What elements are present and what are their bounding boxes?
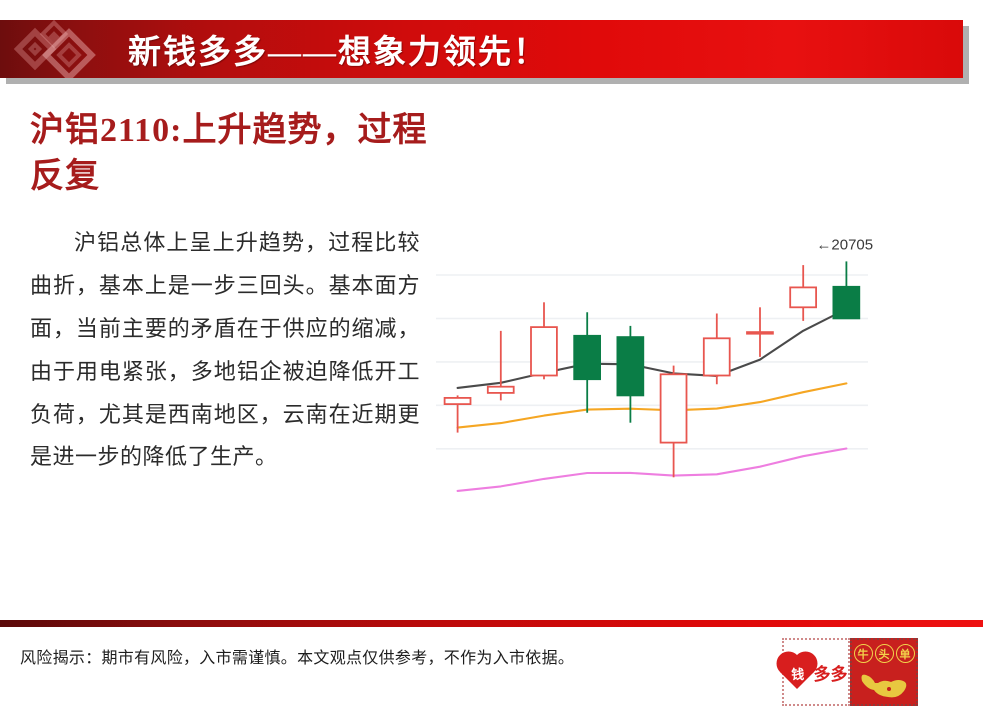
heart-icon: 钱	[780, 655, 814, 689]
candle-body	[574, 336, 600, 379]
candle-body	[531, 327, 557, 375]
candlestick-chart: ←20705	[428, 214, 878, 506]
chart-svg: ←20705	[428, 214, 878, 506]
footer-divider	[0, 620, 983, 627]
niutoudan-char-1: 牛	[854, 644, 873, 663]
bull-icon	[858, 669, 910, 701]
niutoudan-char-3: 单	[896, 644, 915, 663]
niutoudan-logo: 牛 头 单	[850, 638, 918, 706]
qianduoduo-heart-char: 钱	[791, 664, 804, 683]
candle-body	[661, 374, 687, 442]
chinese-knot-logo	[0, 20, 118, 78]
qianduoduo-label: 多多	[814, 660, 848, 685]
candle-body	[747, 332, 773, 334]
candle-body	[790, 287, 816, 307]
candle-body	[445, 398, 471, 404]
ma-line-ma5	[458, 309, 847, 388]
candle-body	[488, 387, 514, 393]
header-title: 新钱多多——想象力领先！	[128, 25, 548, 73]
candle-body	[833, 287, 859, 319]
chart-ma-lines	[458, 309, 847, 506]
footer-disclaimer: 风险揭示：期市有风险，入市需谨慎。本文观点仅供参考，不作为入市依据。	[20, 644, 574, 668]
niutoudan-char-2: 头	[875, 644, 894, 663]
ma-line-ma20	[458, 449, 847, 491]
niutoudan-chars: 牛 头 单	[852, 644, 916, 663]
footer-logos: 钱 多多 牛 头 单	[782, 638, 922, 708]
qianduoduo-logo: 钱 多多	[782, 638, 850, 706]
candle-body	[704, 338, 730, 375]
page-title: 沪铝2110:上升趋势，过程反复	[30, 108, 460, 200]
body-paragraph: 沪铝总体上呈上升趋势，过程比较曲折，基本上是一步三回头。基本面方面，当前主要的矛…	[30, 222, 420, 479]
header-banner: 新钱多多——想象力领先！	[0, 20, 963, 78]
price-annotation-label: ←20705	[816, 236, 873, 253]
chart-annotations: ←20705	[816, 236, 873, 253]
candle-body	[617, 337, 643, 395]
